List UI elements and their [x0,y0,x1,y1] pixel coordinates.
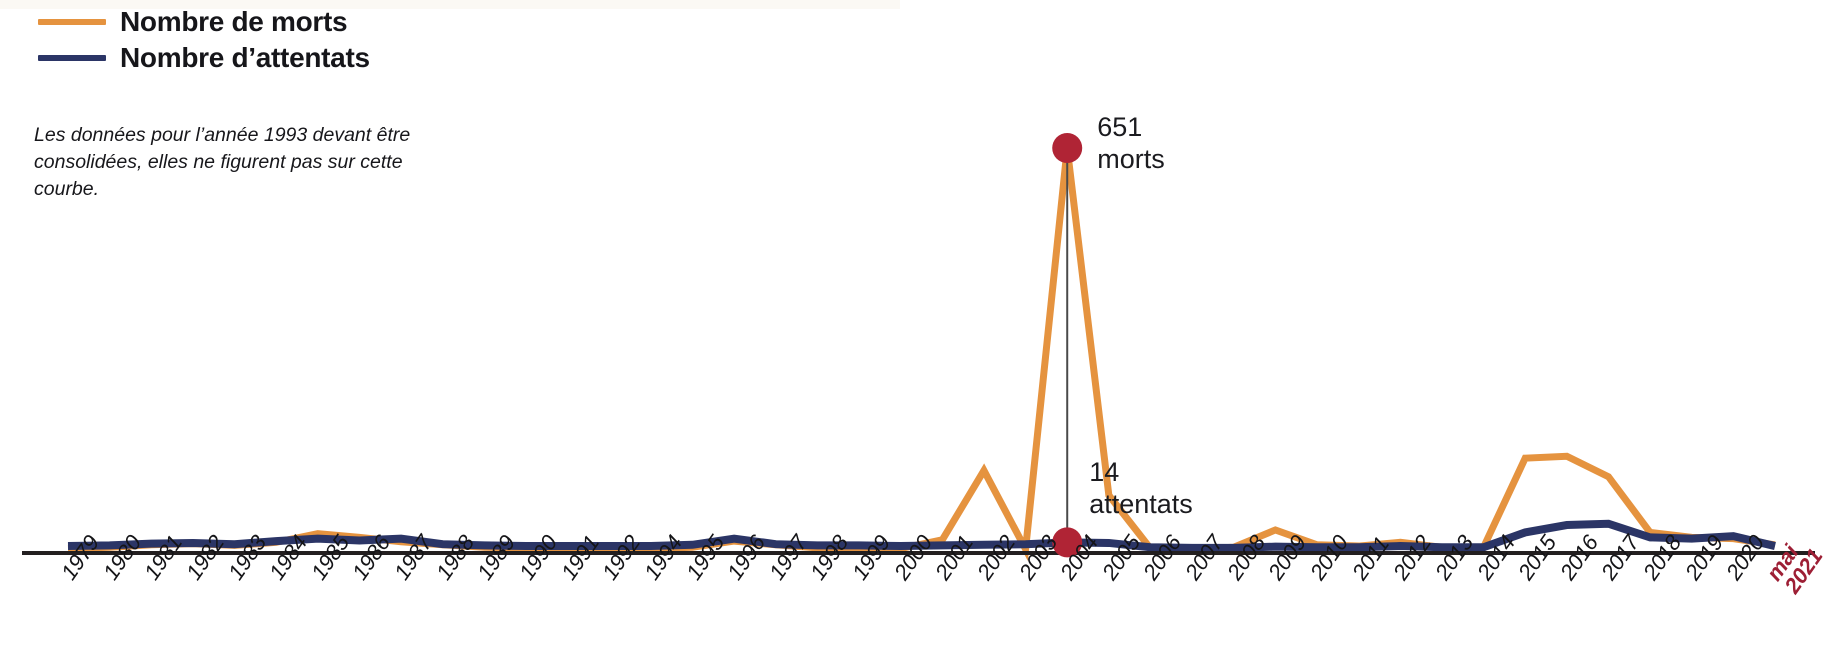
plot-area [0,0,1844,656]
chart-legend: Nombre de morts Nombre d’attentats [38,4,370,76]
legend-swatch-deaths [38,19,106,25]
annotation-deaths-unit: morts [1097,144,1165,176]
chart-note: Les données pour l’année 1993 devant êtr… [34,122,444,203]
legend-swatch-attacks [38,55,106,61]
annotation-attacks: 14 attentats [1089,457,1193,521]
legend-label-attacks: Nombre d’attentats [120,42,370,74]
plot-svg [0,0,1844,656]
legend-label-deaths: Nombre de morts [120,6,347,38]
annotation-marker-attacks[interactable] [1052,527,1082,557]
chart-root: Nombre de morts Nombre d’attentats Les d… [0,0,1844,656]
series-paths [68,148,1775,549]
annotation-deaths: 651 morts [1097,112,1165,176]
annotation-attacks-unit: attentats [1089,489,1193,521]
annotation-deaths-value: 651 [1097,112,1165,144]
legend-item-attacks[interactable]: Nombre d’attentats [38,40,370,76]
series-line-deaths [68,148,1775,549]
annotation-attacks-value: 14 [1089,457,1193,489]
series-line-attacks [68,524,1775,548]
legend-item-deaths[interactable]: Nombre de morts [38,4,370,40]
annotation-marker-deaths[interactable] [1052,133,1082,163]
